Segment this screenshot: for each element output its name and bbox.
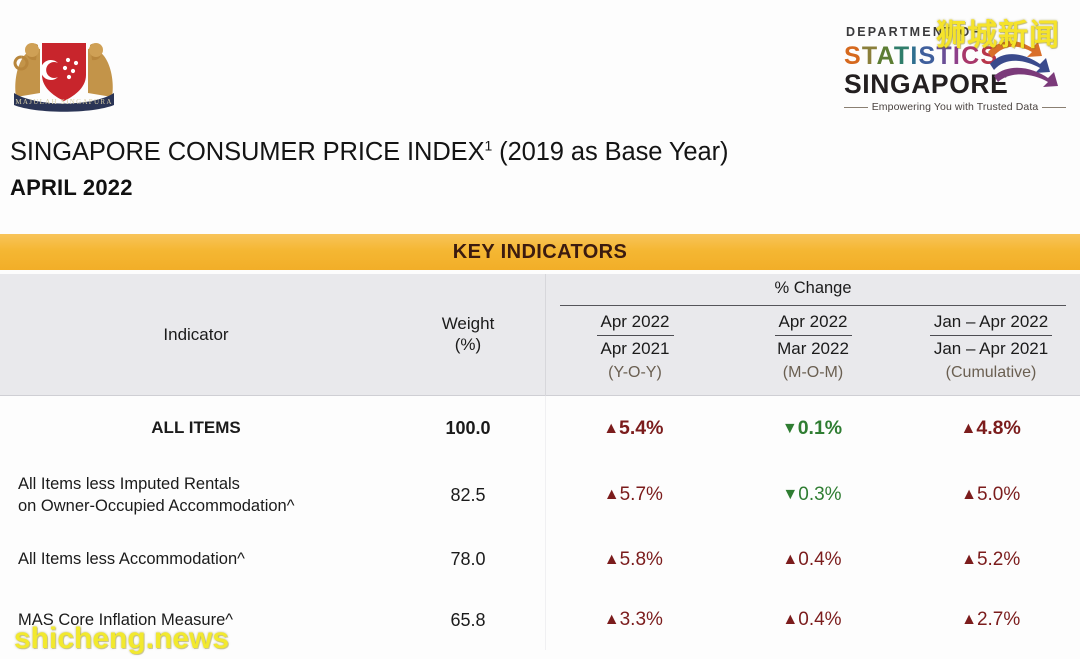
row-value-yoy: ▲5.4% <box>544 417 723 440</box>
page-title-main: SINGAPORE CONSUMER PRICE INDEX <box>10 138 485 166</box>
svg-text:MAJULAH SINGAPURA: MAJULAH SINGAPURA <box>15 98 112 106</box>
row-weight-value: 100.0 <box>392 418 544 439</box>
up-arrow-icon: ▲ <box>603 420 619 437</box>
row-indicator-line2: on Owner-Occupied Accommodation^ <box>18 495 392 517</box>
row-value-cumulative-text: 2.7% <box>977 609 1020 630</box>
row-value-mom-text: 0.1% <box>798 417 842 439</box>
up-arrow-icon: ▲ <box>782 611 798 628</box>
row-indicator-label: All Items less Accommodation^ <box>0 548 392 570</box>
up-arrow-icon: ▲ <box>961 486 977 503</box>
table-row: ALL ITEMS 100.0 ▲5.4% ▼0.1% ▲4.8% <box>0 396 1080 461</box>
row-value-mom: ▼0.3% <box>723 484 902 506</box>
column-header-cumulative: Jan – Apr 2022 Jan – Apr 2021 (Cumulativ… <box>902 308 1080 396</box>
row-value-yoy: ▲5.7% <box>544 484 723 506</box>
column-header-percent-change: % Change <box>546 279 1080 298</box>
row-value-yoy-text: 3.3% <box>620 609 663 630</box>
column-header-weight-line1: Weight <box>442 314 495 335</box>
up-arrow-icon: ▲ <box>604 486 620 503</box>
row-value-mom-text: 0.3% <box>798 484 841 505</box>
up-arrow-icon: ▲ <box>961 611 977 628</box>
key-indicators-table: Indicator Weight (%) % Change Apr 2022 A… <box>0 274 1080 650</box>
row-value-cumulative-text: 5.0% <box>977 484 1020 505</box>
key-indicators-banner: KEY INDICATORS <box>0 234 1080 270</box>
column-header-weight: Weight (%) <box>392 274 544 396</box>
row-value-mom: ▲0.4% <box>723 549 902 571</box>
percent-change-rule <box>560 305 1066 306</box>
row-weight-value: 65.8 <box>392 610 544 631</box>
row-value-cumulative-text: 4.8% <box>976 417 1020 439</box>
table-body: ALL ITEMS 100.0 ▲5.4% ▼0.1% ▲4.8% All It… <box>0 396 1080 650</box>
page-title: SINGAPORE CONSUMER PRICE INDEX1 (2019 as… <box>10 138 728 167</box>
row-value-cumulative: ▲4.8% <box>901 417 1080 440</box>
row-value-yoy-text: 5.8% <box>620 549 663 570</box>
row-value-mom-text: 0.4% <box>798 549 841 570</box>
row-indicator-label: All Items less Imputed Rentals on Owner-… <box>0 473 392 518</box>
report-header-band: MAJULAH SINGAPURA DEPARTMENT OF STATISTI… <box>0 0 1080 128</box>
row-value-yoy-text: 5.7% <box>620 484 663 505</box>
row-values: ▲3.3% ▲0.4% ▲2.7% <box>544 609 1080 631</box>
column-header-mom-note: (M-O-M) <box>783 363 843 384</box>
row-values: ▲5.8% ▲0.4% ▲5.2% <box>544 549 1080 571</box>
column-header-cumulative-note: (Cumulative) <box>946 363 1037 384</box>
down-arrow-icon: ▼ <box>782 420 798 437</box>
up-arrow-icon: ▲ <box>604 551 620 568</box>
table-header: Indicator Weight (%) % Change Apr 2022 A… <box>0 274 1080 396</box>
row-value-cumulative: ▲5.2% <box>901 549 1080 571</box>
row-vertical-divider <box>545 529 546 590</box>
tagline-rule-left <box>844 107 868 108</box>
column-header-yoy: Apr 2022 Apr 2021 (Y-O-Y) <box>546 308 724 396</box>
singapore-state-crest-icon: MAJULAH SINGAPURA <box>8 19 120 114</box>
column-header-mom-numerator: Apr 2022 <box>775 311 852 336</box>
column-header-yoy-note: (Y-O-Y) <box>608 363 662 384</box>
column-header-yoy-denominator: Apr 2021 <box>597 336 674 360</box>
up-arrow-icon: ▲ <box>782 551 798 568</box>
column-header-weight-line2: (%) <box>455 335 481 356</box>
row-indicator-line1: All Items less Imputed Rentals <box>18 473 392 495</box>
row-value-cumulative-text: 5.2% <box>977 549 1020 570</box>
row-weight-value: 82.5 <box>392 485 544 506</box>
column-header-mom-denominator: Mar 2022 <box>773 336 853 360</box>
column-header-cumulative-numerator: Jan – Apr 2022 <box>930 311 1052 336</box>
row-vertical-divider <box>545 396 546 461</box>
watermark-chinese: 狮城新闻 <box>936 10 1060 54</box>
row-value-cumulative: ▲2.7% <box>901 609 1080 631</box>
row-value-mom: ▲0.4% <box>723 609 902 631</box>
row-value-yoy-text: 5.4% <box>619 417 663 439</box>
row-value-mom: ▼0.1% <box>723 417 902 440</box>
table-row: All Items less Accommodation^ 78.0 ▲5.8%… <box>0 529 1080 590</box>
row-value-yoy: ▲3.3% <box>544 609 723 631</box>
row-value-cumulative: ▲5.0% <box>901 484 1080 506</box>
column-header-mom: Apr 2022 Mar 2022 (M-O-M) <box>724 308 902 396</box>
dos-logo-tagline: Empowering You with Trusted Data <box>872 101 1039 113</box>
cpi-report-page: MAJULAH SINGAPURA DEPARTMENT OF STATISTI… <box>0 0 1080 659</box>
tagline-rule-right <box>1042 107 1066 108</box>
column-header-yoy-numerator: Apr 2022 <box>597 311 674 336</box>
down-arrow-icon: ▼ <box>782 486 798 503</box>
row-values: ▲5.4% ▼0.1% ▲4.8% <box>544 417 1080 440</box>
column-header-change-group: % Change Apr 2022 Apr 2021 (Y-O-Y) Apr 2… <box>546 274 1080 396</box>
up-arrow-icon: ▲ <box>604 611 620 628</box>
up-arrow-icon: ▲ <box>961 551 977 568</box>
dos-logo-tagline-row: Empowering You with Trusted Data <box>844 101 1066 113</box>
row-value-yoy: ▲5.8% <box>544 549 723 571</box>
column-header-cumulative-denominator: Jan – Apr 2021 <box>930 336 1052 360</box>
row-vertical-divider <box>545 590 546 650</box>
table-row: All Items less Imputed Rentals on Owner-… <box>0 461 1080 529</box>
column-header-indicator: Indicator <box>0 274 392 396</box>
row-weight-value: 78.0 <box>392 549 544 570</box>
watermark-site: shicheng.news <box>14 622 229 656</box>
row-indicator-label: ALL ITEMS <box>0 417 392 440</box>
row-value-mom-text: 0.4% <box>798 609 841 630</box>
row-vertical-divider <box>545 461 546 529</box>
page-subtitle: APRIL 2022 <box>10 175 133 201</box>
page-title-suffix: (2019 as Base Year) <box>492 138 728 166</box>
up-arrow-icon: ▲ <box>961 420 977 437</box>
row-values: ▲5.7% ▼0.3% ▲5.0% <box>544 484 1080 506</box>
